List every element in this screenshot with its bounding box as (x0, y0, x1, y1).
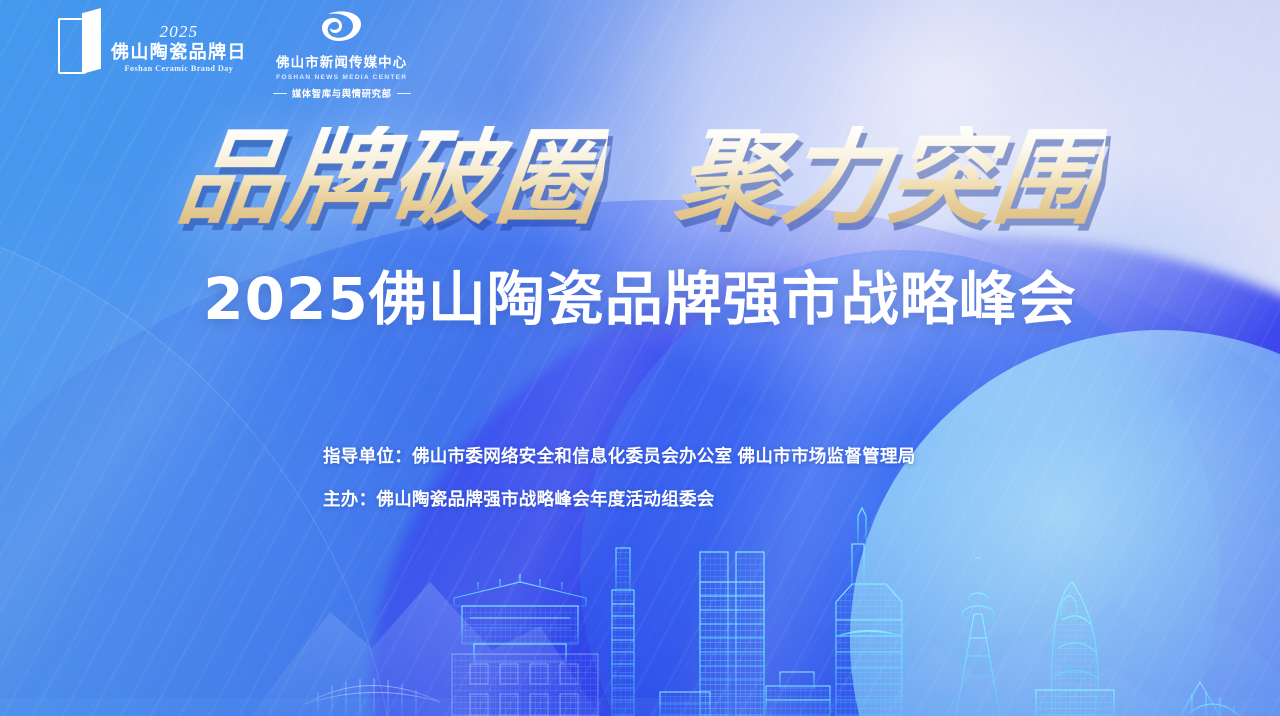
host-unit-line: 主办：佛山陶瓷品牌强市战略峰会年度活动组委会 (323, 486, 916, 511)
logo-left-name-en: Foshan Ceramic Brand Day (124, 65, 233, 73)
rule-left (273, 93, 287, 94)
headline: 品牌破圈 聚力突围 (0, 126, 1280, 230)
logo-foshan-ceramic-brand-day[interactable]: 2025 佛山陶瓷品牌日 Foshan Ceramic Brand Day (58, 8, 247, 74)
headline-part-1: 品牌破圈 (172, 126, 609, 230)
headline-part-2: 聚力突围 (671, 126, 1108, 230)
rule-right (397, 93, 411, 94)
subtitle: 2025佛山陶瓷品牌强市战略峰会 (0, 270, 1280, 328)
poster-canvas: 2025 佛山陶瓷品牌日 Foshan Ceramic Brand Day 佛山… (0, 0, 1280, 716)
logo-right-name-cn: 佛山市新闻传媒中心 (276, 51, 407, 71)
city-skyline (0, 486, 1280, 716)
logo-left-year: 2025 (160, 23, 199, 40)
logo-foshan-news-media-center[interactable]: 佛山市新闻传媒中心 FOSHAN NEWS MEDIA CENTER 媒体智库与… (273, 8, 411, 100)
logo-bar: 2025 佛山陶瓷品牌日 Foshan Ceramic Brand Day 佛山… (58, 8, 411, 100)
logo-right-department-label: 媒体智库与舆情研究部 (292, 86, 392, 100)
wave-swirl-icon (319, 10, 365, 49)
open-book-tile-icon (58, 8, 102, 74)
logo-right-department: 媒体智库与舆情研究部 (273, 86, 411, 100)
guiding-units-line: 指导单位：佛山市委网络安全和信息化委员会办公室 佛山市市场监督管理局 (323, 443, 916, 468)
logo-right-name-en: FOSHAN NEWS MEDIA CENTER (276, 74, 407, 81)
subtitle-text: 2025佛山陶瓷品牌强市战略峰会 (203, 270, 1076, 328)
logo-left-name-cn: 佛山陶瓷品牌日 (111, 43, 247, 61)
organizer-block: 指导单位：佛山市委网络安全和信息化委员会办公室 佛山市市场监督管理局 主办：佛山… (323, 443, 916, 511)
